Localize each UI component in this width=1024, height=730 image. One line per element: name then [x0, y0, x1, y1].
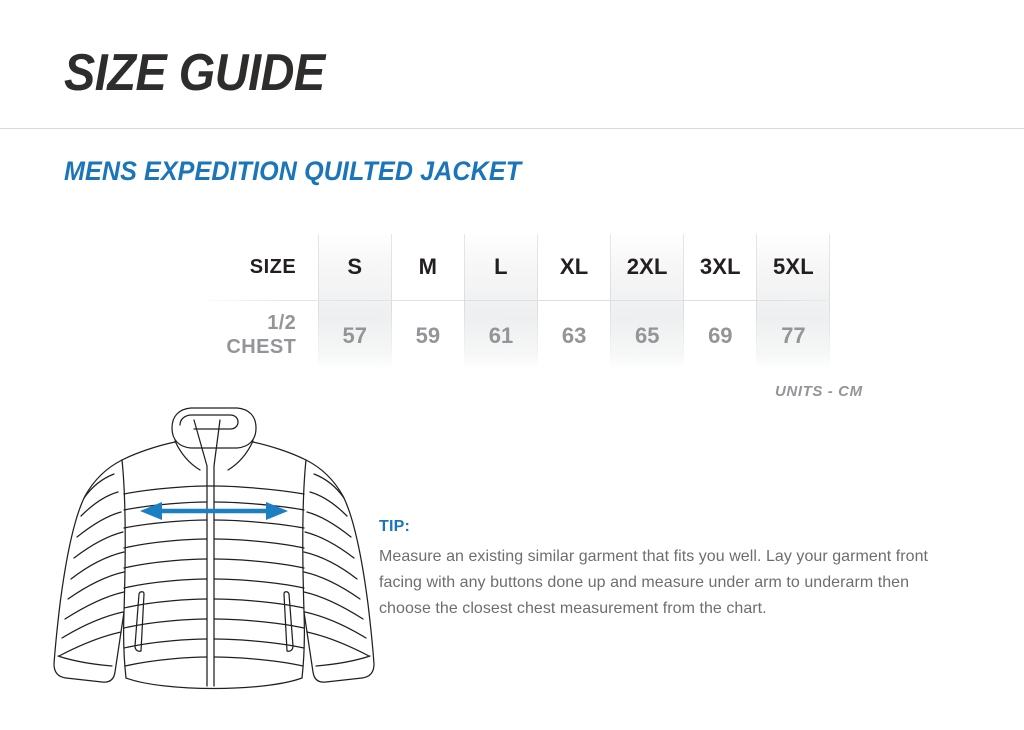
collar-inner-edge: [180, 415, 238, 429]
table-header-col-3xl: 3XL: [684, 234, 757, 300]
armhole-seam-left: [122, 460, 126, 678]
quilt-sleeve-r7: [304, 592, 363, 619]
collar-fold-left: [175, 441, 200, 470]
units-note: UNITS - CM: [775, 383, 863, 400]
quilt-body-6r: [214, 579, 304, 588]
size-chart-table: SIZE S M L XL 2XL 3XL 5XL 1/2 CHEST 57 5…: [178, 234, 830, 372]
row-label-half-chest: 1/2 CHEST: [178, 300, 318, 372]
quilt-sleeve-l3: [77, 512, 121, 537]
cell-half-chest-2xl: 65: [611, 300, 684, 372]
table-row-half-chest: 1/2 CHEST 57 59 61 63 65 69 77: [178, 300, 830, 372]
cuff-line-right: [316, 656, 370, 666]
quilt-sleeve-r2: [310, 492, 347, 516]
quilt-body-9r: [214, 639, 304, 648]
quilt-sleeve-r3: [307, 512, 351, 537]
quilt-sleeve-r6: [304, 572, 360, 599]
size-guide-page: SIZE GUIDE MENS EXPEDITION QUILTED JACKE…: [0, 0, 1024, 730]
page-title: SIZE GUIDE: [64, 46, 325, 101]
size-table: SIZE S M L XL 2XL 3XL 5XL 1/2 CHEST 57 5…: [178, 234, 830, 372]
tip-block: TIP: Measure an existing similar garment…: [379, 518, 964, 622]
table-header-col-2xl: 2XL: [611, 234, 684, 300]
shoulder-seam-right: [253, 442, 306, 460]
row-label-line-2: CHEST: [226, 336, 296, 358]
table-header-row: SIZE S M L XL 2XL 3XL 5XL: [178, 234, 830, 300]
product-title: MENS EXPEDITION QUILTED JACKET: [64, 156, 521, 187]
quilt-body-7l: [124, 599, 207, 608]
tip-body: Measure an existing similar garment that…: [379, 544, 964, 622]
quilt-body-4l: [124, 539, 207, 548]
jacket-outline-group: [54, 408, 374, 689]
quilt-body-5r: [214, 559, 304, 568]
arrow-head-left: [140, 502, 162, 520]
cell-half-chest-s: 57: [318, 300, 391, 372]
quilt-sleeve-r5: [304, 552, 357, 579]
shoulder-seam-left: [122, 442, 175, 460]
quilt-body-10r: [214, 657, 303, 666]
quilt-sleeve-l2: [81, 492, 118, 516]
zip-tape-left: [194, 420, 207, 486]
collar-fold-right: [228, 441, 253, 470]
quilt-body-1r: [214, 486, 304, 494]
quilt-sleeve-r9: [307, 632, 369, 656]
table-header-col-l: L: [464, 234, 537, 300]
row-label-line-1: 1/2: [267, 312, 296, 334]
jacket-illustration: [44, 398, 384, 703]
armhole-seam-right: [302, 460, 306, 678]
cell-half-chest-l: 61: [464, 300, 537, 372]
quilt-body-5l: [124, 559, 207, 568]
table-header-col-m: M: [391, 234, 464, 300]
pocket-right: [284, 592, 293, 652]
pocket-left: [135, 592, 144, 652]
jacket-line-drawing-svg: [44, 398, 384, 703]
table-header-col-xl: XL: [538, 234, 611, 300]
quilt-body-1l: [124, 486, 207, 494]
quilt-body-10l: [125, 657, 207, 666]
table-header-col-5xl: 5XL: [757, 234, 830, 300]
cuff-line-left: [58, 656, 112, 666]
cell-half-chest-m: 59: [391, 300, 464, 372]
collar-outer: [172, 408, 256, 448]
quilt-sleeve-l6: [68, 572, 124, 599]
arrow-head-right: [266, 502, 288, 520]
cell-half-chest-5xl: 77: [757, 300, 830, 372]
cell-half-chest-xl: 63: [538, 300, 611, 372]
quilt-sleeve-l5: [71, 552, 124, 579]
table-header-col-s: S: [318, 234, 391, 300]
zip-tape-right: [214, 420, 220, 486]
quilt-sleeve-l9: [59, 632, 121, 656]
quilt-sleeve-l7: [65, 592, 124, 619]
cell-half-chest-3xl: 69: [684, 300, 757, 372]
quilt-body-4r: [214, 539, 304, 548]
quilt-body-3l: [124, 520, 207, 528]
tip-heading: TIP:: [379, 518, 964, 536]
quilt-body-6l: [124, 579, 207, 588]
quilt-body-3r: [214, 520, 304, 528]
quilt-body-9l: [124, 639, 207, 648]
header-divider: [0, 128, 1024, 129]
table-header-size-label: SIZE: [178, 234, 318, 300]
